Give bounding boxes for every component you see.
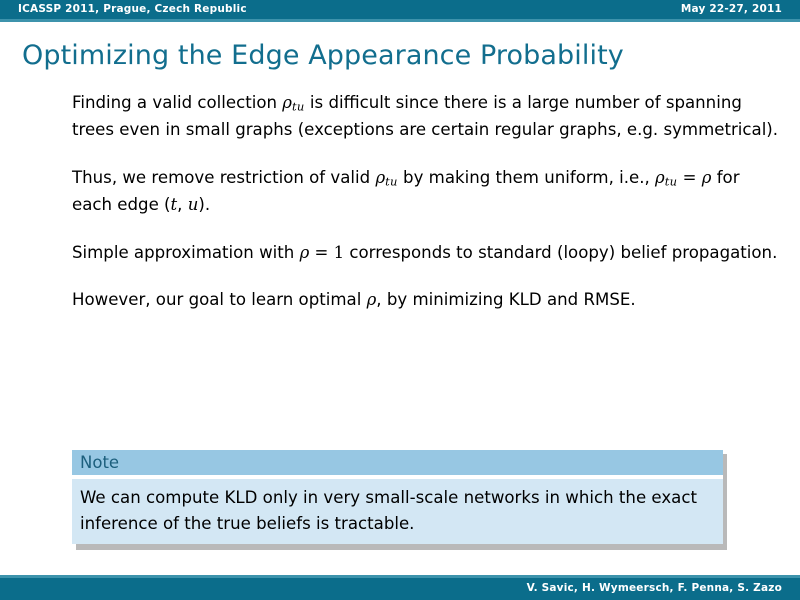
rho-glyph: ρ xyxy=(702,168,712,187)
paragraph-4-text-b: , by minimizing KLD and RMSE. xyxy=(376,290,635,309)
paragraph-3-text-b: corresponds to standard (loopy) belief p… xyxy=(344,243,777,262)
rho-tu-symbol: ρtu xyxy=(375,168,397,187)
note-block: Note We can compute KLD only in very sma… xyxy=(72,450,723,544)
rho-glyph: ρ xyxy=(367,290,377,309)
conference-name: ICASSP 2011, Prague, Czech Republic xyxy=(18,3,247,15)
rho-glyph: ρ xyxy=(300,243,310,262)
author-list: V. Savic, H. Wymeersch, F. Penna, S. Zaz… xyxy=(527,582,782,594)
rho-equals-one: = 1 xyxy=(309,243,344,262)
conference-dates: May 22-27, 2011 xyxy=(681,3,782,15)
rho-tu-symbol: ρtu xyxy=(282,93,304,112)
edge-separator: , xyxy=(177,195,188,214)
rho-subscript: tu xyxy=(385,174,398,188)
paragraph-3: Simple approximation with ρ = 1 correspo… xyxy=(72,240,782,267)
rho-subscript: tu xyxy=(665,174,678,188)
paragraph-1: Finding a valid collection ρtu is diffic… xyxy=(72,90,782,144)
rho-glyph: ρ xyxy=(655,168,665,187)
paragraph-2: Thus, we remove restriction of valid ρtu… xyxy=(72,165,782,219)
rho-tu-symbol-2: ρtu xyxy=(655,168,677,187)
header-rule xyxy=(0,19,800,22)
edge-u-symbol: u xyxy=(188,195,199,214)
paragraph-2-text-a: Thus, we remove restriction of valid xyxy=(72,168,375,187)
paragraph-4-text-a: However, our goal to learn optimal xyxy=(72,290,367,309)
note-header: Note xyxy=(72,450,723,475)
paragraph-2-text-b: by making them uniform, i.e., xyxy=(398,168,655,187)
equals-operator: = xyxy=(677,168,701,187)
slide-body: Finding a valid collection ρtu is diffic… xyxy=(72,90,782,314)
paragraph-2-text-d: ). xyxy=(198,195,210,214)
note-title: Note xyxy=(80,453,119,472)
page-title: Optimizing the Edge Appearance Probabili… xyxy=(22,40,624,71)
paragraph-3-text-a: Simple approximation with xyxy=(72,243,300,262)
rho-glyph: ρ xyxy=(375,168,385,187)
note-text: We can compute KLD only in very small-sc… xyxy=(72,479,723,544)
rho-glyph: ρ xyxy=(282,93,292,112)
slide-footer-bar: V. Savic, H. Wymeersch, F. Penna, S. Zaz… xyxy=(0,578,800,600)
paragraph-1-text-a: Finding a valid collection xyxy=(72,93,282,112)
slide-header-bar: ICASSP 2011, Prague, Czech Republic May … xyxy=(0,0,800,19)
rho-subscript: tu xyxy=(292,100,305,114)
paragraph-4: However, our goal to learn optimal ρ, by… xyxy=(72,287,782,314)
